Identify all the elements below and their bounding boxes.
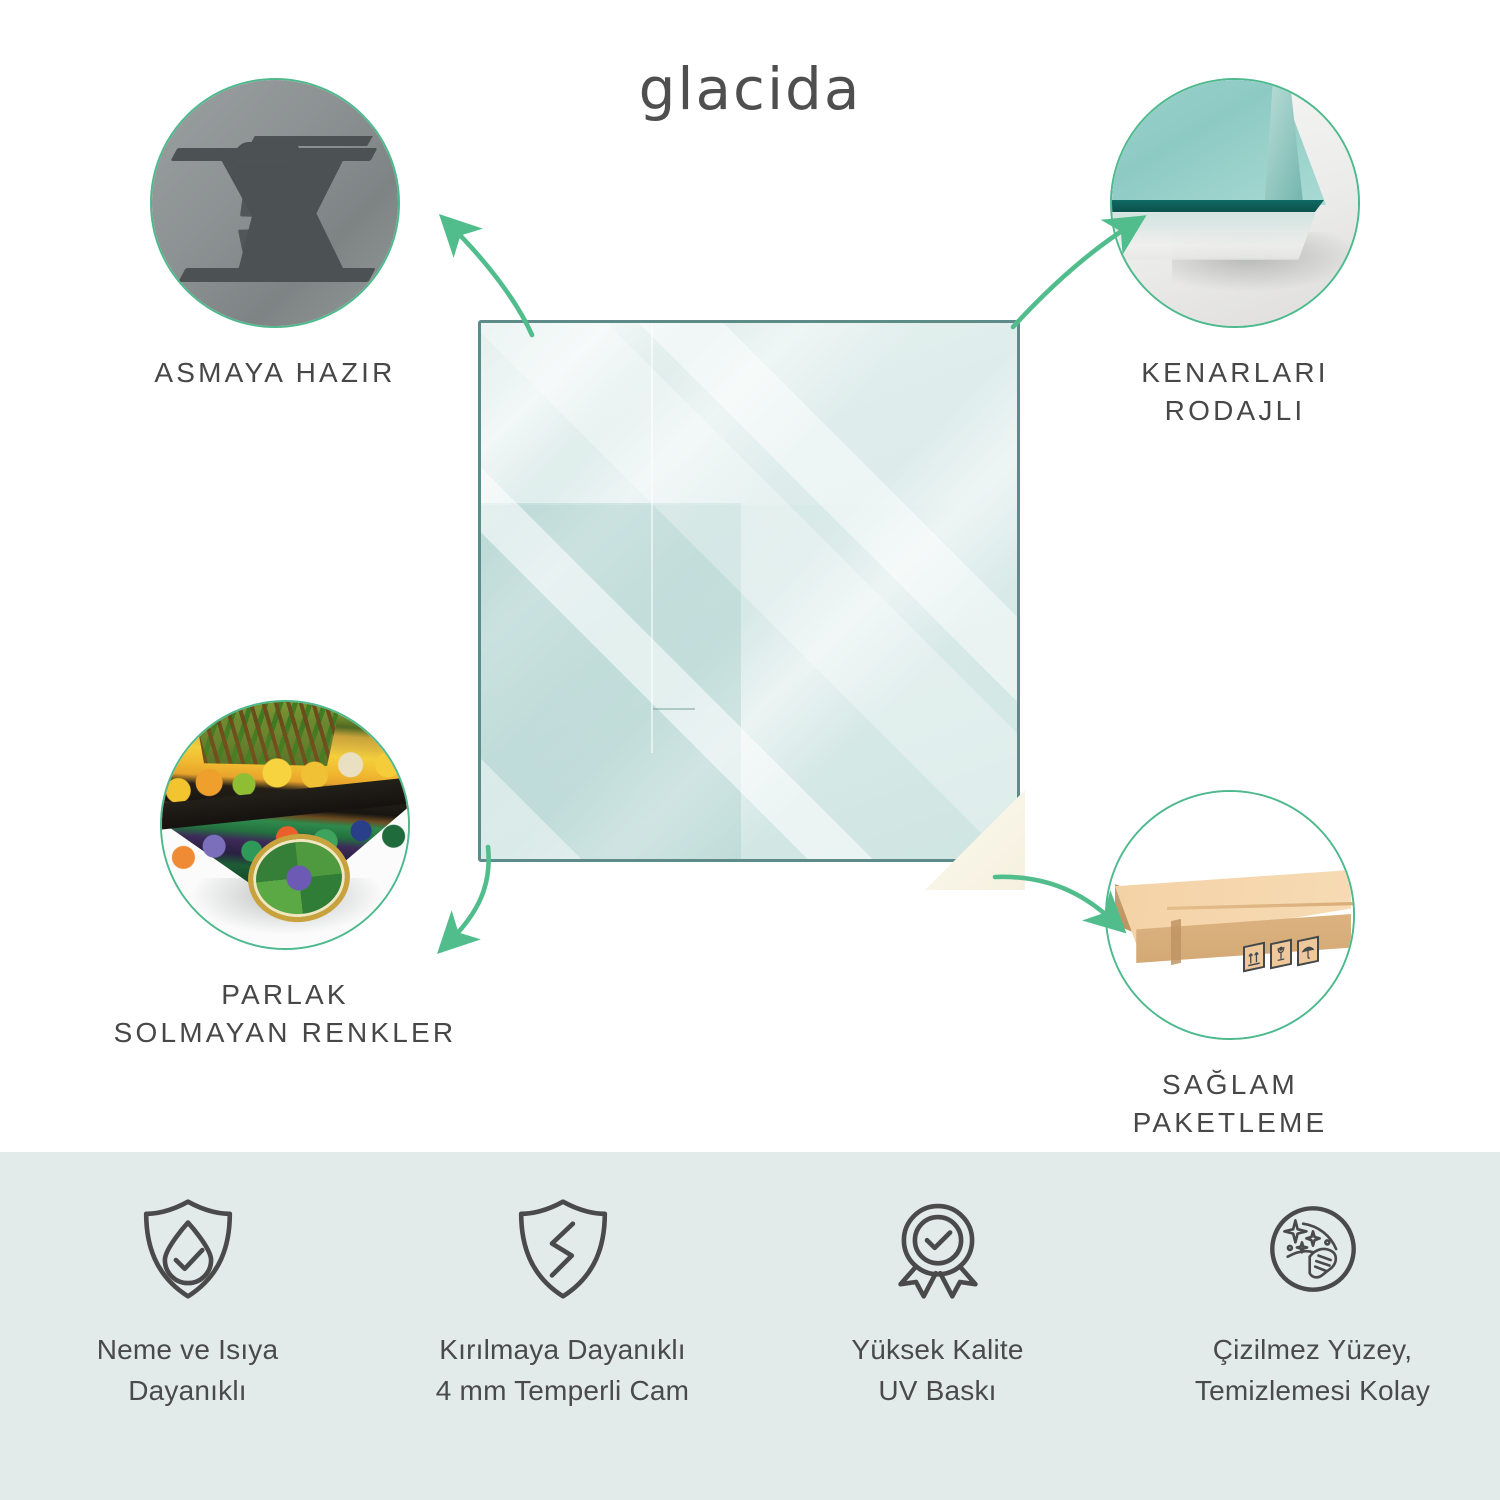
curved-arrow-up-left-icon xyxy=(420,185,610,370)
feature-packaging-label: SAĞLAM PAKETLEME xyxy=(1030,1066,1430,1141)
tempered-glass-panel xyxy=(478,320,1020,862)
feature-colors: PARLAK SOLMAYAN RENKLER xyxy=(160,700,410,1051)
feature-edges-label: KENARLARI RODAJLI xyxy=(1070,354,1400,429)
sparkle-wiping-hand-icon xyxy=(1258,1194,1368,1304)
curved-arrow-up-right-icon xyxy=(1005,185,1185,365)
shield-crack-bolt-icon xyxy=(508,1194,618,1304)
keep-dry-umbrella-symbol-icon xyxy=(1297,936,1319,967)
this-way-up-symbol-icon xyxy=(1243,942,1265,973)
curved-arrow-down-right-icon xyxy=(985,835,1185,965)
award-ribbon-check-icon xyxy=(883,1194,993,1304)
feature-hanging-label: ASMAYA HAZIR xyxy=(75,354,475,392)
stained-glass-image xyxy=(162,702,408,948)
benefit-moisture-heat-label: Neme ve Isıya Dayanıklı xyxy=(97,1330,279,1411)
infographic-page: glacida ASMAYA HAZIR xyxy=(0,0,1500,1500)
benefit-high-quality-label: Yüksek Kalite UV Baskı xyxy=(851,1330,1023,1411)
benefit-moisture-heat: Neme ve Isıya Dayanıklı xyxy=(0,1152,375,1500)
fragile-glass-symbol-icon xyxy=(1270,939,1292,970)
feature-colors-label: PARLAK SOLMAYAN RENKLER xyxy=(75,976,495,1051)
bracket-image xyxy=(152,80,398,326)
stained-glass-print-photo xyxy=(160,700,410,950)
shield-water-drop-check-icon xyxy=(133,1194,243,1304)
benefit-scratch-free: Çizilmez Yüzey, Temizlemesi Kolay xyxy=(1125,1152,1500,1500)
wall-mount-bracket-photo xyxy=(150,78,400,328)
curved-arrow-down-left-icon xyxy=(400,845,600,985)
benefit-break-resistant: Kırılmaya Dayanıklı 4 mm Temperli Cam xyxy=(375,1152,750,1500)
benefit-high-quality: Yüksek Kalite UV Baskı xyxy=(750,1152,1125,1500)
feature-hanging: ASMAYA HAZIR xyxy=(150,78,400,392)
benefit-scratch-free-label: Çizilmez Yüzey, Temizlemesi Kolay xyxy=(1195,1330,1430,1411)
benefit-break-resistant-label: Kırılmaya Dayanıklı 4 mm Temperli Cam xyxy=(436,1330,689,1411)
benefits-band: Neme ve Isıya Dayanıklı Kırılmaya Dayanı… xyxy=(0,1152,1500,1500)
